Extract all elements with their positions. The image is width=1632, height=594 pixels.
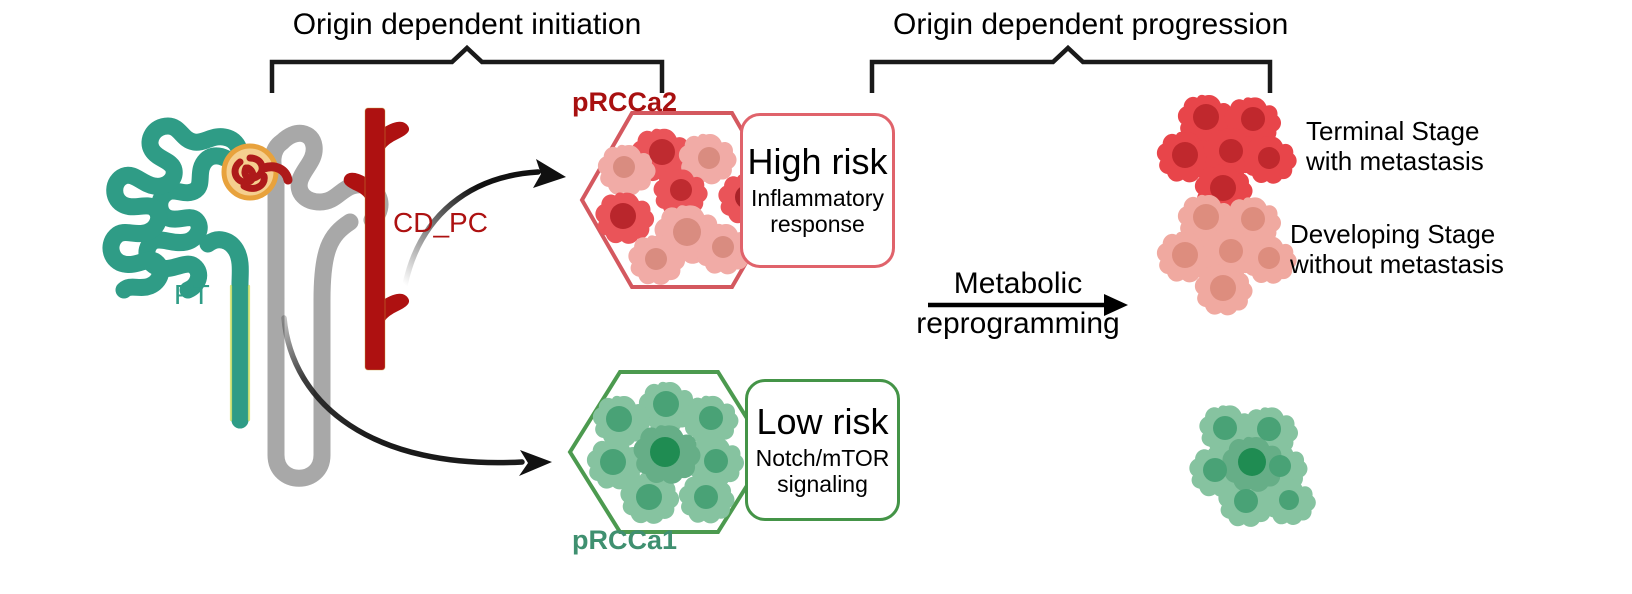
label-terminal-stage-line1: Terminal Stage xyxy=(1306,116,1479,147)
risk-title-low: Low risk xyxy=(756,403,888,441)
label-proximal-tubule: PT xyxy=(174,279,210,310)
proximal-tubule xyxy=(111,126,240,420)
caption-prcca1: pRCCa1 xyxy=(572,525,677,555)
label-developing-stage-line2: without metastasis xyxy=(1290,249,1504,280)
heading-origin-dependent-initiation: Origin dependent initiation xyxy=(292,8,642,42)
collecting-duct xyxy=(344,108,409,370)
figure-canvas: Origin dependent initiation Origin depen… xyxy=(0,0,1632,594)
bracket-progression xyxy=(872,48,1270,93)
metabolic-label-top: Metabolic xyxy=(905,268,1131,300)
label-developing-stage-line1: Developing Stage xyxy=(1290,219,1495,250)
risk-subtitle-low-line2: signaling xyxy=(777,471,868,497)
heading-origin-dependent-progression: Origin dependent progression xyxy=(893,8,1243,42)
cluster-developing-stage xyxy=(1157,195,1297,315)
risk-subtitle-low-line1: Notch/mTOR xyxy=(756,445,890,471)
risk-subtitle-high-line2: response xyxy=(770,211,865,237)
risk-box-low[interactable]: Low risk Notch/mTOR signaling xyxy=(745,379,900,521)
caption-prcca2: pRCCa2 xyxy=(572,87,677,117)
cluster-terminal-stage xyxy=(1157,95,1297,215)
label-terminal-stage-line2: with metastasis xyxy=(1306,146,1484,177)
label-collecting-duct: CD_PC xyxy=(393,207,488,238)
cluster-low-risk-outcome xyxy=(1189,405,1315,527)
hexagon-prcca1 xyxy=(570,372,768,532)
risk-title-high: High risk xyxy=(747,143,887,181)
metabolic-label-bottom: reprogramming xyxy=(905,308,1131,340)
risk-box-high[interactable]: High risk Inflammatory response xyxy=(740,113,895,268)
risk-subtitle-high-line1: Inflammatory xyxy=(751,185,884,211)
